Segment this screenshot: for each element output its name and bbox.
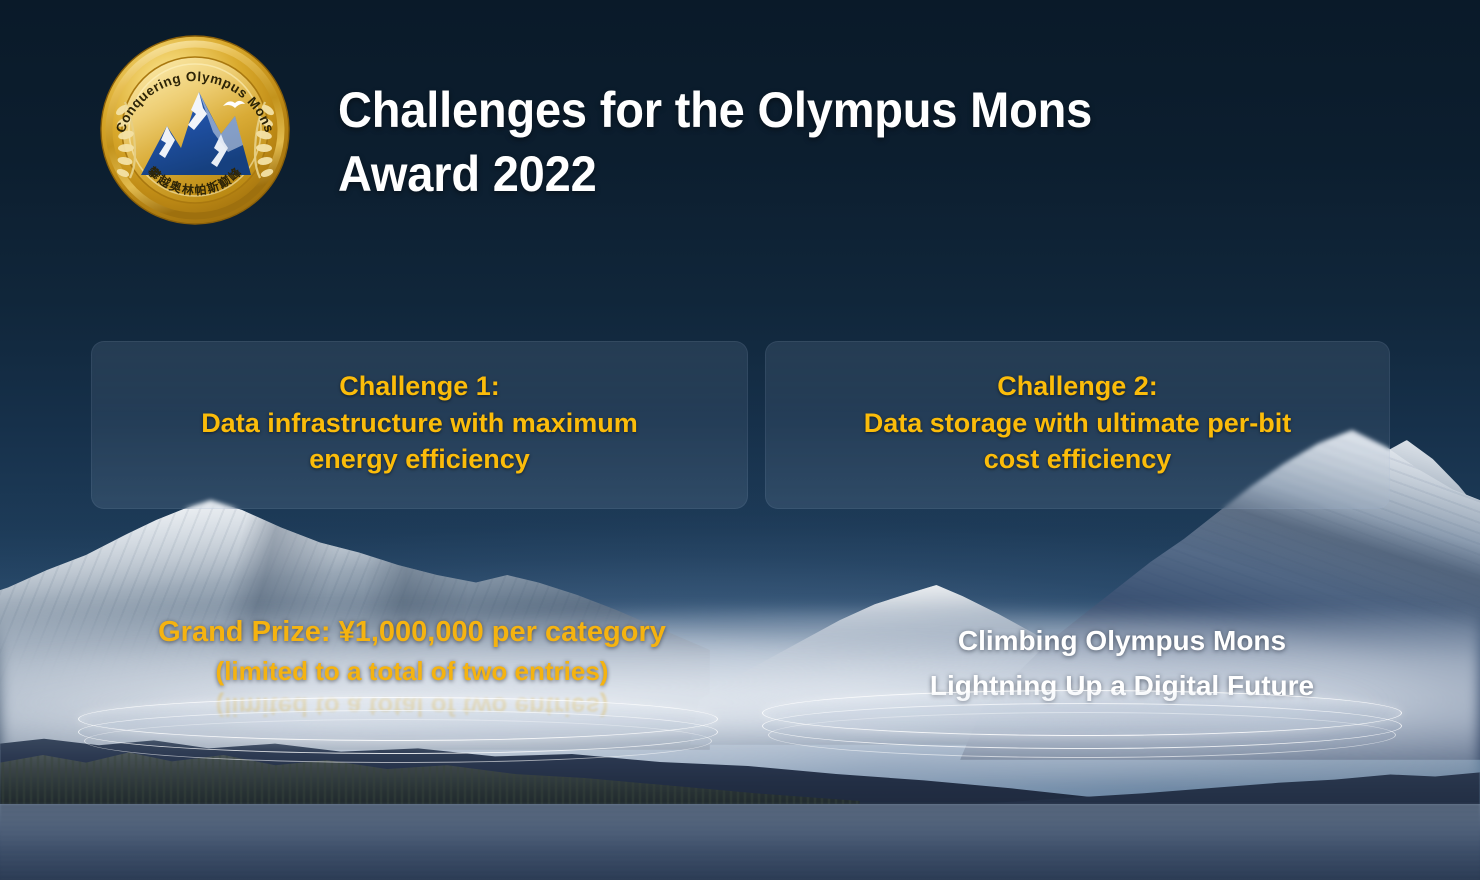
title-line-1: Challenges for the Olympus Mons [338,78,1222,142]
challenge-2-line-1: Challenge 2: [864,368,1292,405]
tagline-line-1: Climbing Olympus Mons [862,618,1382,663]
page-title: Challenges for the Olympus Mons Award 20… [338,78,1222,206]
prize-line-1: Grand Prize: ¥1,000,000 per category [112,612,712,653]
challenge-1-line-1: Challenge 1: [201,368,638,405]
pedestal-left-top [78,697,718,741]
title-line-2: Award 2022 [338,142,1222,206]
award-logo: Conquering Olympus Mons 攀越奥林帕斯巅峰 [95,30,295,230]
challenge-2-card[interactable]: Challenge 2: Data storage with ultimate … [765,341,1390,509]
pedestal-right-top [762,690,1402,736]
challenge-cards: Challenge 1: Data infrastructure with ma… [91,341,1390,509]
challenge-1-card[interactable]: Challenge 1: Data infrastructure with ma… [91,341,748,509]
glass-pedestal-right [762,690,1402,736]
prize-line-2: (limited to a total of two entries) [112,653,712,690]
challenge-2-line-2: Data storage with ultimate per-bit [864,405,1292,442]
medallion-icon: Conquering Olympus Mons 攀越奥林帕斯巅峰 [95,30,295,230]
grand-prize-text: Grand Prize: ¥1,000,000 per category (li… [112,612,712,690]
challenge-2-line-3: cost efficiency [864,441,1292,478]
lake-reflection [0,804,1480,880]
challenge-1-line-3: energy efficiency [201,441,638,478]
presentation-slide: Conquering Olympus Mons 攀越奥林帕斯巅峰 Challen… [0,0,1480,880]
challenge-1-line-2: Data infrastructure with maximum [201,405,638,442]
challenge-2-text: Challenge 2: Data storage with ultimate … [864,368,1292,478]
glass-pedestal-left [78,697,718,741]
challenge-1-text: Challenge 1: Data infrastructure with ma… [201,368,638,478]
